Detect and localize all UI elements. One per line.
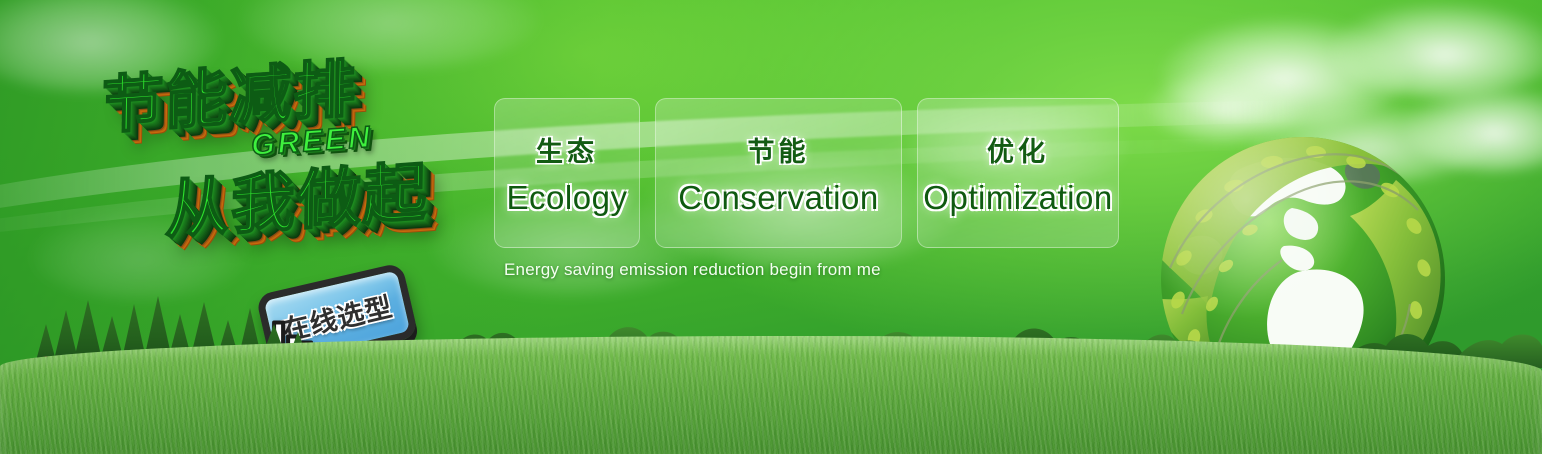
feature-card-en-label: Optimization: [923, 179, 1112, 217]
feature-card-conservation[interactable]: 节能 Conservation: [655, 98, 902, 248]
feature-card-cn-label: 生态: [536, 130, 598, 169]
headline-line-2: 从我做起: [164, 141, 429, 252]
green-energy-banner: 节能减排 GREEN 从我做起 在线选型 生态 Ecology 节能 Conse…: [0, 0, 1542, 454]
headline-artwork: 节能减排 GREEN 从我做起: [88, 24, 503, 283]
banner-tagline: Energy saving emission reduction begin f…: [504, 260, 881, 280]
feature-card-en-label: Conservation: [678, 179, 878, 217]
feature-card-en-label: Ecology: [507, 179, 628, 217]
feature-card-cn-label: 节能: [748, 130, 810, 169]
grass-meadow-icon: [0, 336, 1542, 454]
feature-card-optimization[interactable]: 优化 Optimization: [917, 98, 1119, 248]
feature-card-cn-label: 优化: [987, 130, 1049, 169]
grass-texture: [0, 336, 1542, 454]
feature-card-ecology[interactable]: 生态 Ecology: [494, 98, 640, 248]
feature-card-list: 生态 Ecology 节能 Conservation 优化 Optimizati…: [494, 98, 1119, 248]
